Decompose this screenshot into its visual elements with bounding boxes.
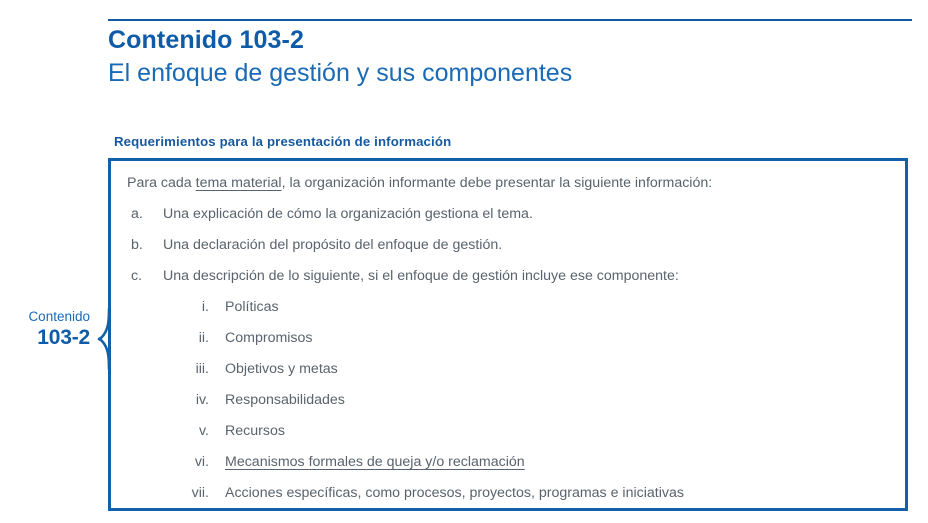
intro-text-after: , la organización informante debe presen… [282,175,713,191]
intro-paragraph: Para cada tema material, la organización… [127,173,893,193]
list-item-marker: iii. [181,359,209,379]
side-callout-word: Contenido [16,308,90,325]
list-item-marker: ii. [181,328,209,348]
list-item-label: Recursos [225,423,285,439]
side-callout-number: 103-2 [16,325,90,350]
section-label: Requerimientos para la presentación de i… [114,134,451,149]
list-item-marker: c. [131,266,151,286]
list-item: b. Una declaración del propósito del enf… [127,235,893,255]
list-item-label: Responsabilidades [225,392,345,408]
side-callout: Contenido 103-2 [8,308,112,370]
list-item-link[interactable]: Mecanismos formales de queja y/o reclama… [225,454,525,470]
page-title: Contenido 103-2 [108,25,918,55]
list-item-label: Objetivos y metas [225,361,338,377]
list-item-marker: iv. [181,390,209,410]
list-item: iii. Objetivos y metas [127,359,893,379]
list-item: vii. Acciones específicas, como procesos… [127,483,893,503]
requirements-box-inner: Para cada tema material, la organización… [127,173,893,514]
list-item-label: Una declaración del propósito del enfoqu… [163,237,502,253]
list-item: i. Políticas [127,297,893,317]
roman-list: i. Políticas ii. Compromisos iii. Objeti… [127,297,893,503]
list-item-marker: vii. [181,483,209,503]
list-item-label: Políticas [225,299,279,315]
alpha-list: a. Una explicación de cómo la organizaci… [127,204,893,286]
list-item-marker: a. [131,204,151,224]
list-item-marker: b. [131,235,151,255]
list-item: vi. Mecanismos formales de queja y/o rec… [127,452,893,472]
list-item-label: Una descripción de lo siguiente, si el e… [163,268,679,284]
list-item: c. Una descripción de lo siguiente, si e… [127,266,893,286]
list-item: ii. Compromisos [127,328,893,348]
intro-link-tema-material[interactable]: tema material [196,175,282,191]
page-heading-block: Contenido 103-2 El enfoque de gestión y … [108,25,918,89]
list-item-marker: vi. [181,452,209,472]
list-item-marker: v. [181,421,209,441]
intro-text-before: Para cada [127,175,196,191]
list-item-label: Acciones específicas, como procesos, pro… [225,485,684,501]
list-item-label: Una explicación de cómo la organización … [163,206,533,222]
list-item-marker: i. [181,297,209,317]
list-item-label: Compromisos [225,330,313,346]
page-subtitle: El enfoque de gestión y sus componentes [108,57,918,89]
side-callout-text: Contenido 103-2 [16,308,90,350]
list-item: iv. Responsabilidades [127,390,893,410]
requirements-box: Para cada tema material, la organización… [108,158,908,511]
header-top-rule [108,19,912,21]
list-item: v. Recursos [127,421,893,441]
list-item: a. Una explicación de cómo la organizaci… [127,204,893,224]
